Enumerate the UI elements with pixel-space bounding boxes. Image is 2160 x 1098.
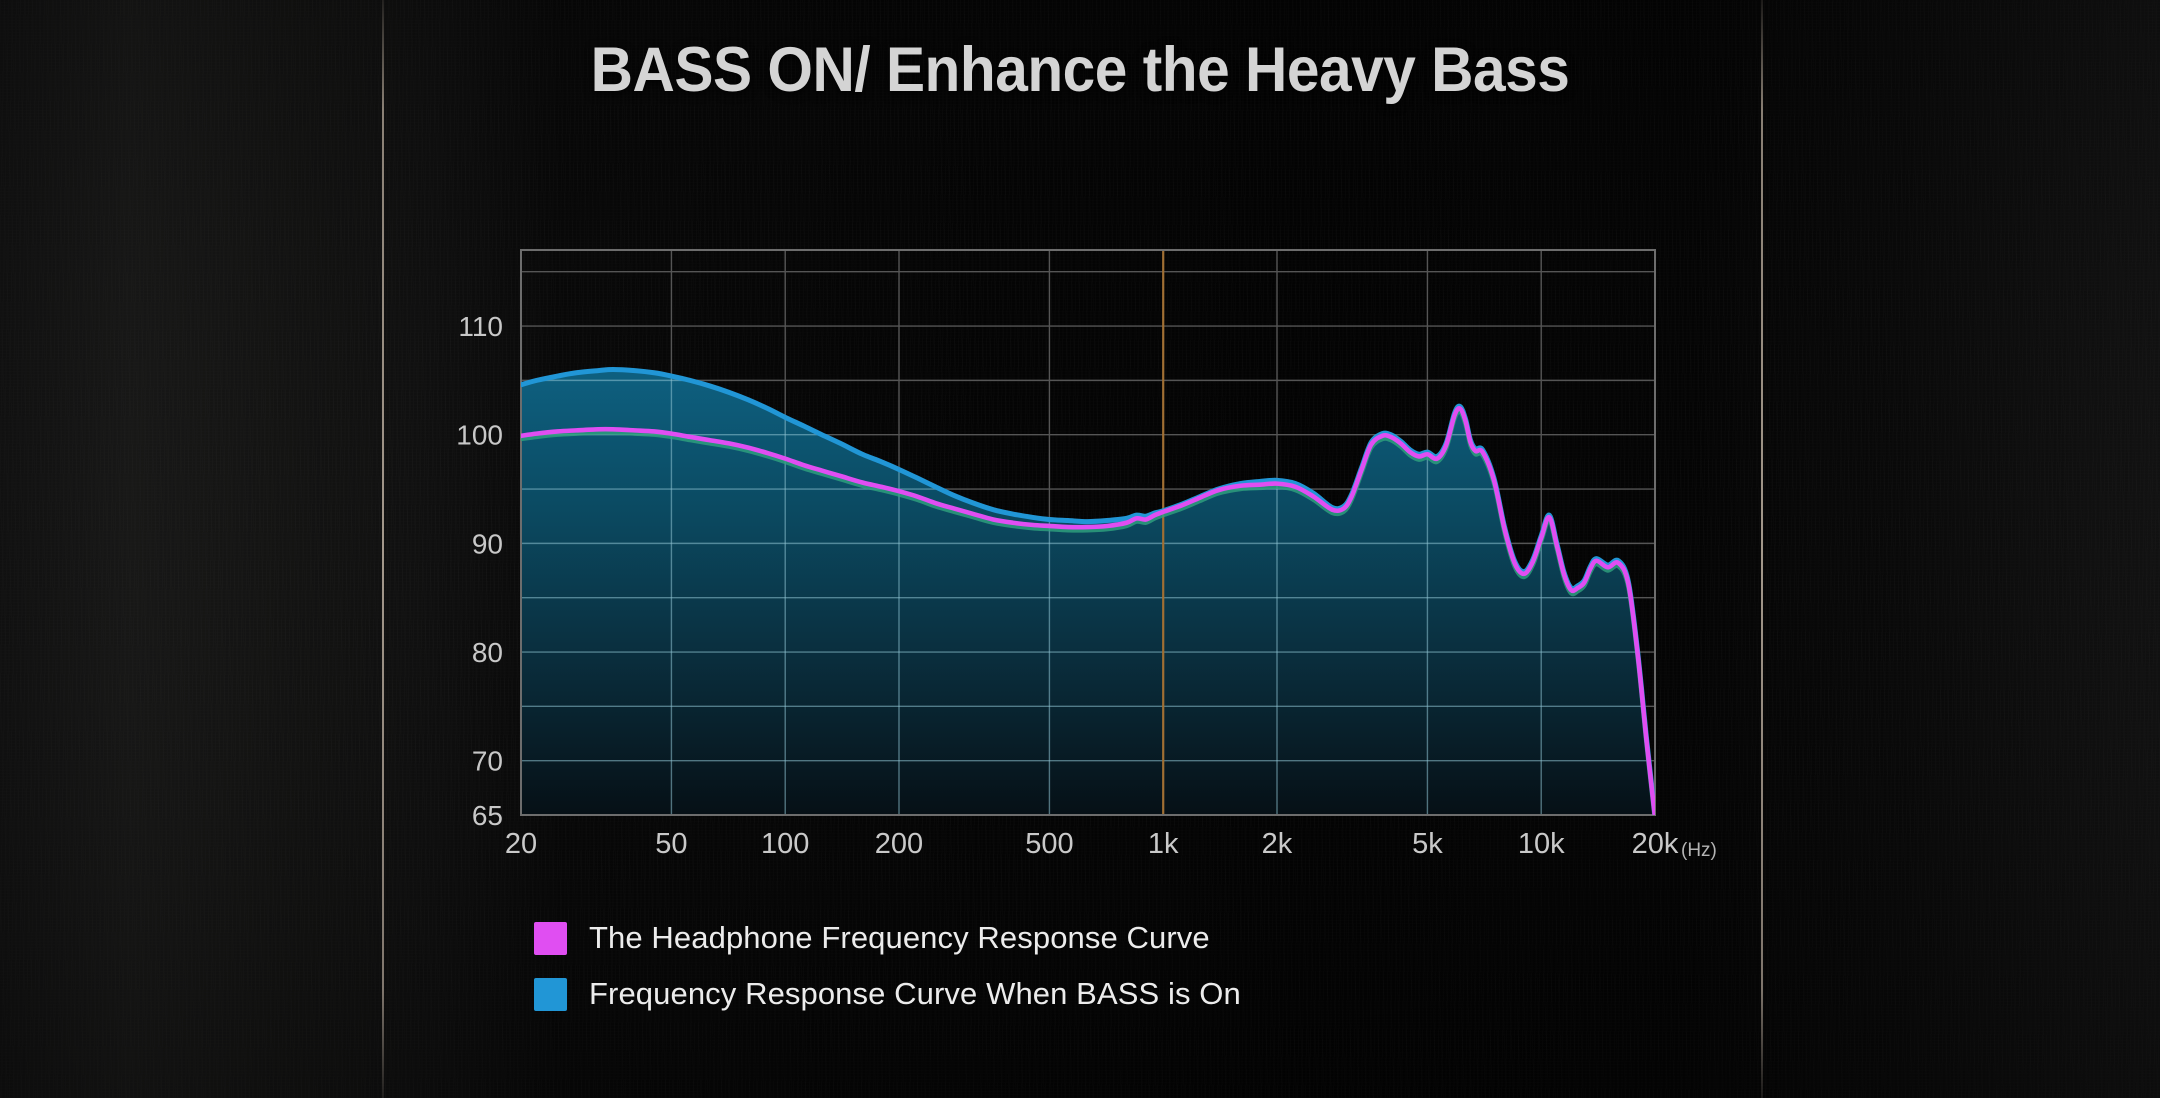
legend-swatch-bass-on [534, 978, 567, 1011]
x-tick-200: 200 [875, 828, 923, 860]
legend-item-headphone: The Headphone Frequency Response Curve [534, 920, 1241, 956]
x-tick-20: 20 [505, 828, 537, 860]
chart-legend: The Headphone Frequency Response Curve F… [534, 920, 1241, 1012]
x-tick-100: 100 [761, 828, 809, 860]
x-tick-2k: 2k [1262, 828, 1293, 860]
x-tick-20k: 20k [1632, 828, 1679, 860]
x-axis-labels: 20501002005001k2k5k10k20k [505, 828, 1679, 860]
legend-swatch-headphone [534, 922, 567, 955]
legend-item-bass-on: Frequency Response Curve When BASS is On [534, 976, 1241, 1012]
x-tick-1k: 1k [1148, 828, 1179, 860]
x-tick-50: 50 [655, 828, 687, 860]
y-axis-labels: 11010090807065 [456, 311, 503, 831]
legend-label-headphone: The Headphone Frequency Response Curve [589, 920, 1210, 956]
y-tick-90: 90 [472, 528, 503, 559]
x-tick-5k: 5k [1412, 828, 1443, 860]
y-tick-110: 110 [458, 311, 503, 342]
y-tick-100: 100 [456, 420, 503, 451]
y-tick-65: 65 [472, 800, 503, 831]
x-tick-10k: 10k [1518, 828, 1565, 860]
x-axis-unit-label: (Hz) [1681, 840, 1717, 861]
y-tick-80: 80 [472, 637, 503, 668]
legend-label-bass-on: Frequency Response Curve When BASS is On [589, 976, 1241, 1012]
y-tick-70: 70 [472, 746, 503, 777]
x-tick-500: 500 [1025, 828, 1073, 860]
